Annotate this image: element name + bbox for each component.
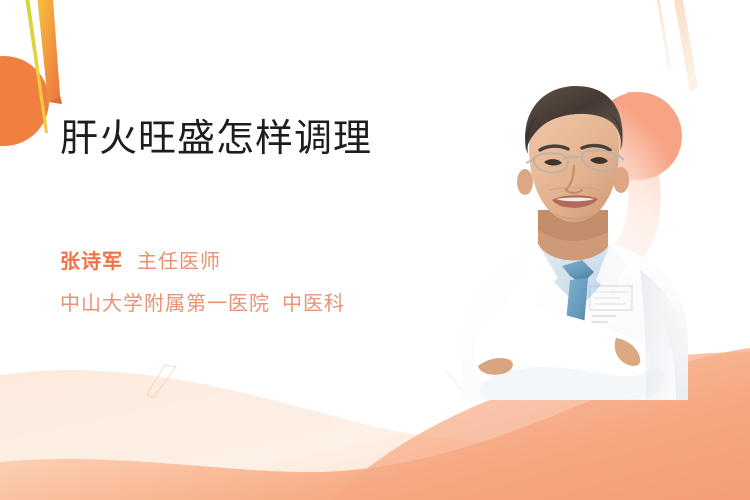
department-name: 中医科: [282, 293, 345, 315]
doctor-name: 张诗军: [60, 251, 123, 273]
doctor-byline: 张诗军主任医师: [60, 248, 221, 276]
doctor-rank: 主任医师: [137, 251, 221, 273]
doctor-affiliation: 中山大学附属第一医院中医科: [60, 290, 345, 318]
hospital-name: 中山大学附属第一医院: [60, 293, 270, 315]
doctor-banner-card: 肝火旺盛怎样调理 张诗军主任医师 中山大学附属第一医院中医科: [0, 0, 750, 500]
page-title: 肝火旺盛怎样调理: [60, 116, 372, 162]
text-content: 肝火旺盛怎样调理 张诗军主任医师 中山大学附属第一医院中医科: [0, 0, 750, 500]
